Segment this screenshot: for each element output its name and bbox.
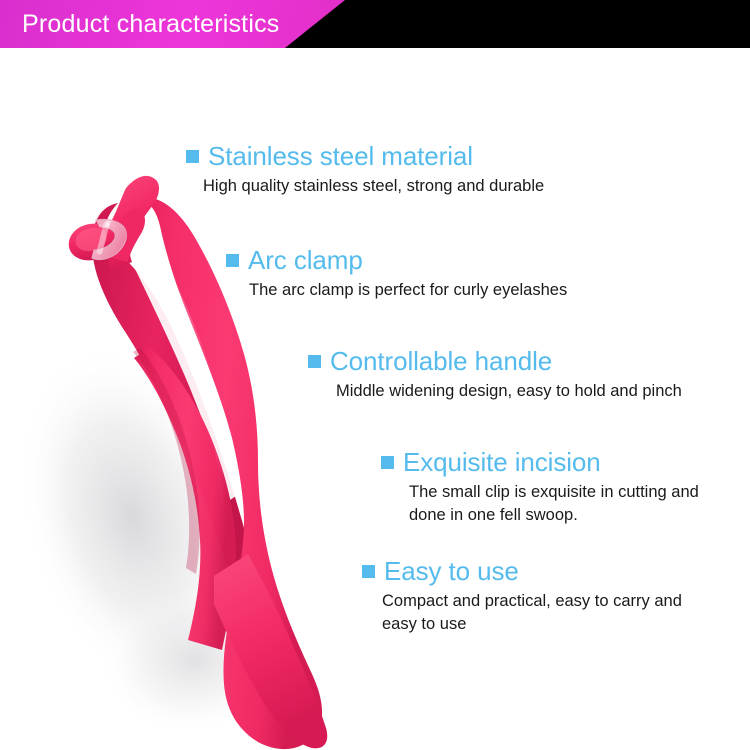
feature-heading: Exquisite incision: [381, 447, 719, 477]
feature-title: Controllable handle: [330, 346, 552, 376]
square-bullet-icon: [186, 150, 199, 163]
feature-description: The arc clamp is perfect for curly eyela…: [249, 279, 567, 302]
feature-heading: Easy to use: [362, 556, 712, 586]
feature-heading: Stainless steel material: [186, 141, 544, 171]
feature-title: Arc clamp: [248, 245, 363, 275]
feature-description: Compact and practical, easy to carry and…: [382, 590, 712, 636]
feature-heading: Arc clamp: [226, 245, 567, 275]
feature-stainless-steel-material: Stainless steel material High quality st…: [186, 141, 544, 198]
feature-title: Easy to use: [384, 556, 519, 586]
feature-description: The small clip is exquisite in cutting a…: [409, 481, 719, 527]
page-title: Product characteristics: [22, 9, 279, 39]
feature-title: Stainless steel material: [208, 141, 473, 171]
square-bullet-icon: [226, 254, 239, 267]
square-bullet-icon: [308, 355, 321, 368]
header-banner: Product characteristics: [0, 0, 750, 48]
square-bullet-icon: [362, 565, 375, 578]
feature-easy-to-use: Easy to use Compact and practical, easy …: [362, 556, 712, 636]
feature-controllable-handle: Controllable handle Middle widening desi…: [308, 346, 682, 403]
feature-arc-clamp: Arc clamp The arc clamp is perfect for c…: [226, 245, 567, 302]
feature-exquisite-incision: Exquisite incision The small clip is exq…: [381, 447, 719, 527]
feature-description: High quality stainless steel, strong and…: [203, 175, 544, 198]
product-characteristics-infographic: Product characteristics: [0, 0, 750, 750]
feature-heading: Controllable handle: [308, 346, 682, 376]
feature-description: Middle widening design, easy to hold and…: [336, 380, 682, 403]
square-bullet-icon: [381, 456, 394, 469]
feature-title: Exquisite incision: [403, 447, 601, 477]
